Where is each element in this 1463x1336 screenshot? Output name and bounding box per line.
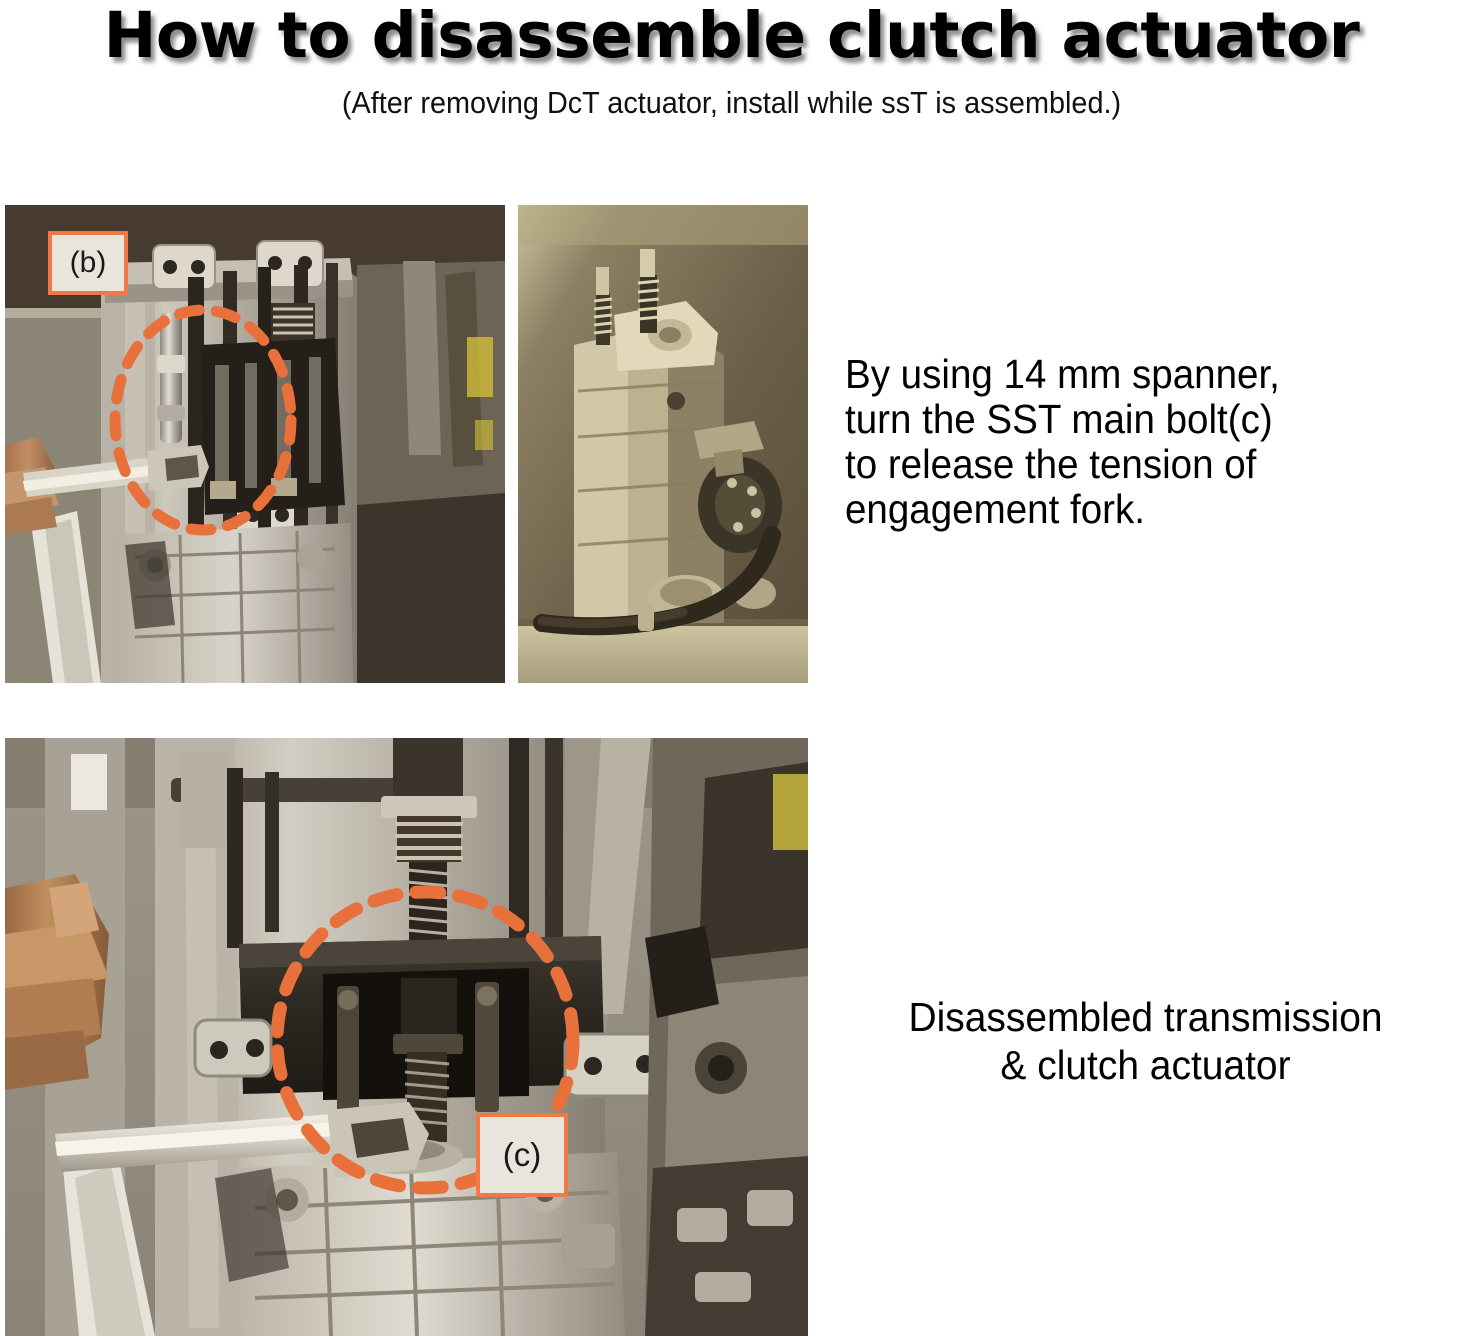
caption-line: By using 14 mm spanner, xyxy=(845,352,1420,397)
caption-line: turn the SST main bolt(c) xyxy=(845,397,1420,442)
caption-step-two: Disassembled transmission & clutch actua… xyxy=(844,993,1447,1089)
sst-main-bolt-photo xyxy=(5,738,808,1336)
callout-label-c: (c) xyxy=(476,1113,568,1197)
callout-label-b: (b) xyxy=(48,231,128,295)
clutch-actuator-sepia-photo xyxy=(518,205,808,683)
page-title: How to disassemble clutch actuator xyxy=(0,2,1463,70)
caption-step-one: By using 14 mm spanner, turn the SST mai… xyxy=(845,352,1420,532)
caption-line: Disassembled transmission xyxy=(844,993,1447,1041)
page-subtitle: (After removing DcT actuator, install wh… xyxy=(51,84,1412,122)
document-header: How to disassemble clutch actuator (Afte… xyxy=(0,0,1463,140)
caption-line: engagement fork. xyxy=(845,487,1420,532)
caption-line: to release the tension of xyxy=(845,442,1420,487)
caption-line: & clutch actuator xyxy=(844,1041,1447,1089)
